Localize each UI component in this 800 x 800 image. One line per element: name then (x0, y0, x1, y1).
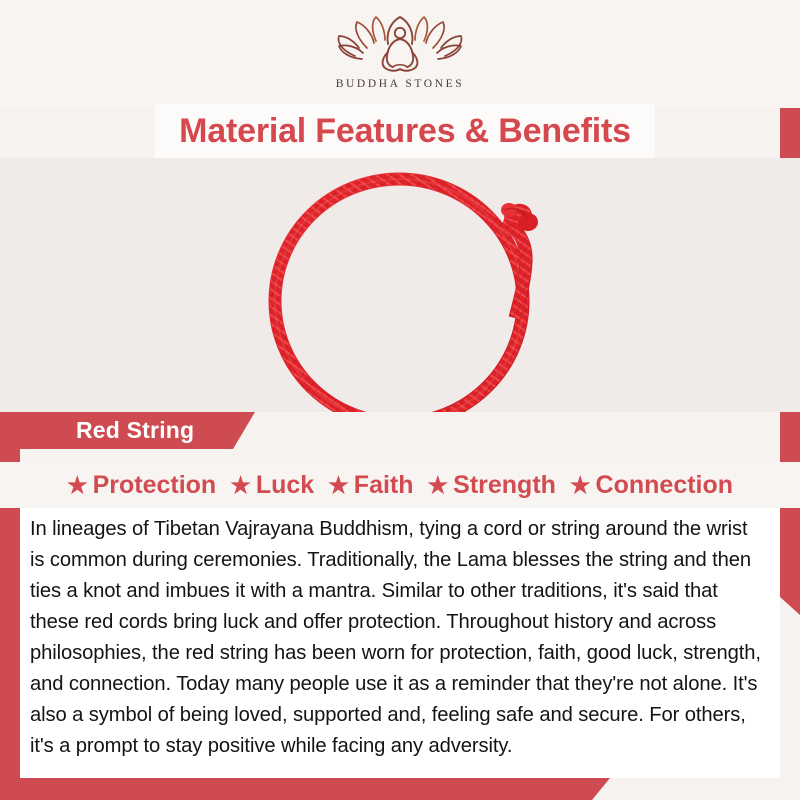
feature-item-luck: ★ Luck (225, 471, 319, 500)
feature-item-faith: ★ Faith (323, 471, 418, 500)
brand-name: BUDDHA STONES (336, 78, 464, 90)
feature-label: Faith (354, 471, 414, 500)
description-text: In lineages of Tibetan Vajrayana Buddhis… (30, 514, 766, 762)
feature-item-protection: ★ Protection (62, 471, 221, 500)
product-image-area (0, 158, 800, 412)
feature-item-connection: ★ Connection (565, 471, 738, 500)
red-string-bracelet-image (247, 166, 577, 412)
feature-label: Connection (596, 471, 734, 500)
infographic-page: BUDDHA STONES Material Features & Benefi… (0, 0, 800, 800)
star-icon: ★ (230, 474, 251, 497)
feature-list: ★ Protection ★ Luck ★ Faith ★ Strength ★… (0, 462, 800, 508)
star-icon: ★ (67, 474, 88, 497)
product-label-ribbon: Red String (20, 412, 255, 449)
star-icon: ★ (328, 474, 349, 497)
brand-header: BUDDHA STONES (0, 0, 800, 108)
product-label-text: Red String (76, 417, 194, 444)
feature-label: Luck (256, 471, 314, 500)
description-area: In lineages of Tibetan Vajrayana Buddhis… (20, 508, 780, 778)
title-banner: Material Features & Benefits (155, 104, 655, 158)
star-icon: ★ (570, 474, 591, 497)
feature-label: Strength (453, 471, 556, 500)
feature-item-strength: ★ Strength (423, 471, 561, 500)
lotus-meditation-icon (331, 14, 469, 76)
page-title: Material Features & Benefits (179, 112, 631, 151)
feature-label: Protection (93, 471, 217, 500)
decor-band-bottom (0, 778, 610, 800)
star-icon: ★ (428, 474, 449, 497)
